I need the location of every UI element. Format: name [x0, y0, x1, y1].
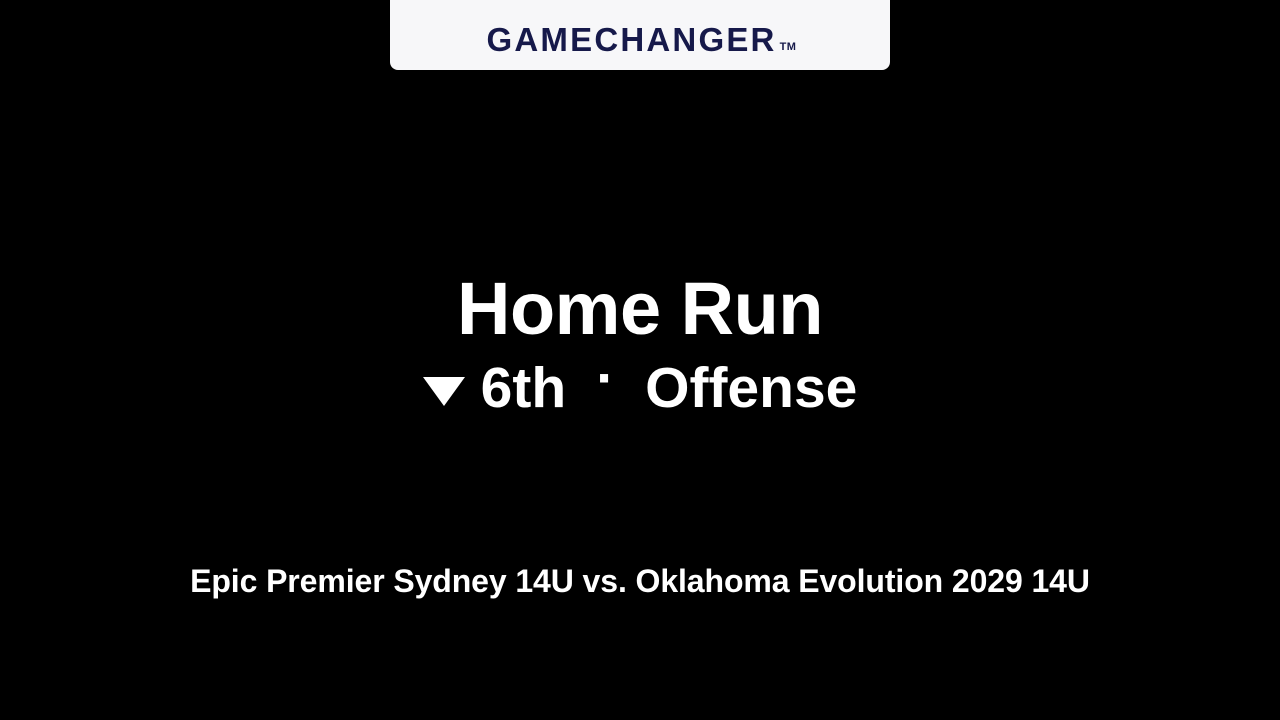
play-context-line: 6th · Offense	[0, 360, 1280, 417]
play-title: Home Run	[0, 272, 1280, 346]
play-result-card: Home Run 6th · Offense	[0, 272, 1280, 417]
side-label: Offense	[645, 360, 857, 417]
separator-dot: ·	[596, 350, 615, 407]
triangle-down-icon	[423, 377, 465, 406]
brand-badge: GAMECHANGERTM	[390, 0, 890, 70]
brand-wordmark-text: GAMECHANGER	[487, 21, 777, 58]
trademark-symbol: TM	[780, 41, 797, 53]
inning-label: 6th	[481, 360, 567, 417]
gamechanger-play-overlay: { "theme": { "background": "#000000", "t…	[0, 0, 1280, 720]
gamechanger-logo: GAMECHANGERTM	[487, 23, 794, 56]
matchup-caption: Epic Premier Sydney 14U vs. Oklahoma Evo…	[0, 562, 1280, 600]
